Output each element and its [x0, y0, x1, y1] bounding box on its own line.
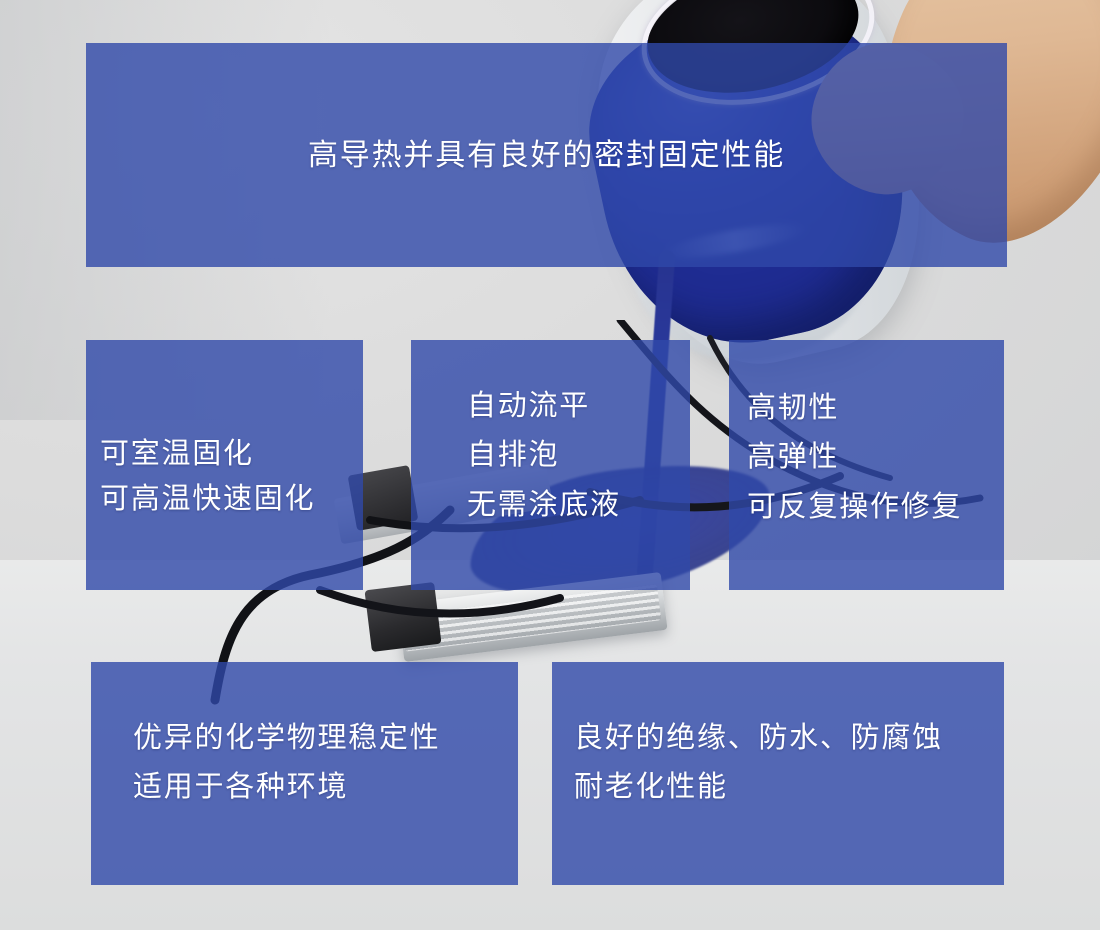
feature-line: 自动流平	[467, 382, 690, 431]
feature-line: 适用于各种环境	[133, 763, 518, 811]
feature-line: 高韧性	[747, 384, 1004, 433]
banner-title: 高导热并具有良好的密封固定性能	[308, 136, 785, 175]
feature-panel-curing: 可室温固化 可高温快速固化	[86, 340, 363, 590]
feature-line: 无需涂底液	[467, 481, 690, 530]
feature-line: 可高温快速固化	[100, 477, 363, 522]
feature-line: 优异的化学物理稳定性	[133, 714, 518, 762]
feature-panel-flow: 自动流平 自排泡 无需涂底液	[411, 340, 690, 590]
feature-line: 良好的绝缘、防水、防腐蚀	[574, 714, 1004, 762]
feature-panel-insulation: 良好的绝缘、防水、防腐蚀 耐老化性能	[552, 662, 1004, 885]
feature-panel-elastic: 高韧性 高弹性 可反复操作修复	[729, 340, 1004, 590]
banner-panel: 高导热并具有良好的密封固定性能	[86, 43, 1007, 267]
feature-line: 自排泡	[467, 431, 690, 480]
feature-line: 高弹性	[747, 433, 1004, 482]
feature-panel-stability: 优异的化学物理稳定性 适用于各种环境	[91, 662, 518, 885]
feature-line: 耐老化性能	[574, 763, 1004, 811]
feature-line: 可室温固化	[100, 432, 363, 477]
promo-graphic: 高导热并具有良好的密封固定性能 可室温固化 可高温快速固化 自动流平 自排泡 无…	[0, 0, 1100, 930]
feature-line: 可反复操作修复	[747, 483, 1004, 532]
